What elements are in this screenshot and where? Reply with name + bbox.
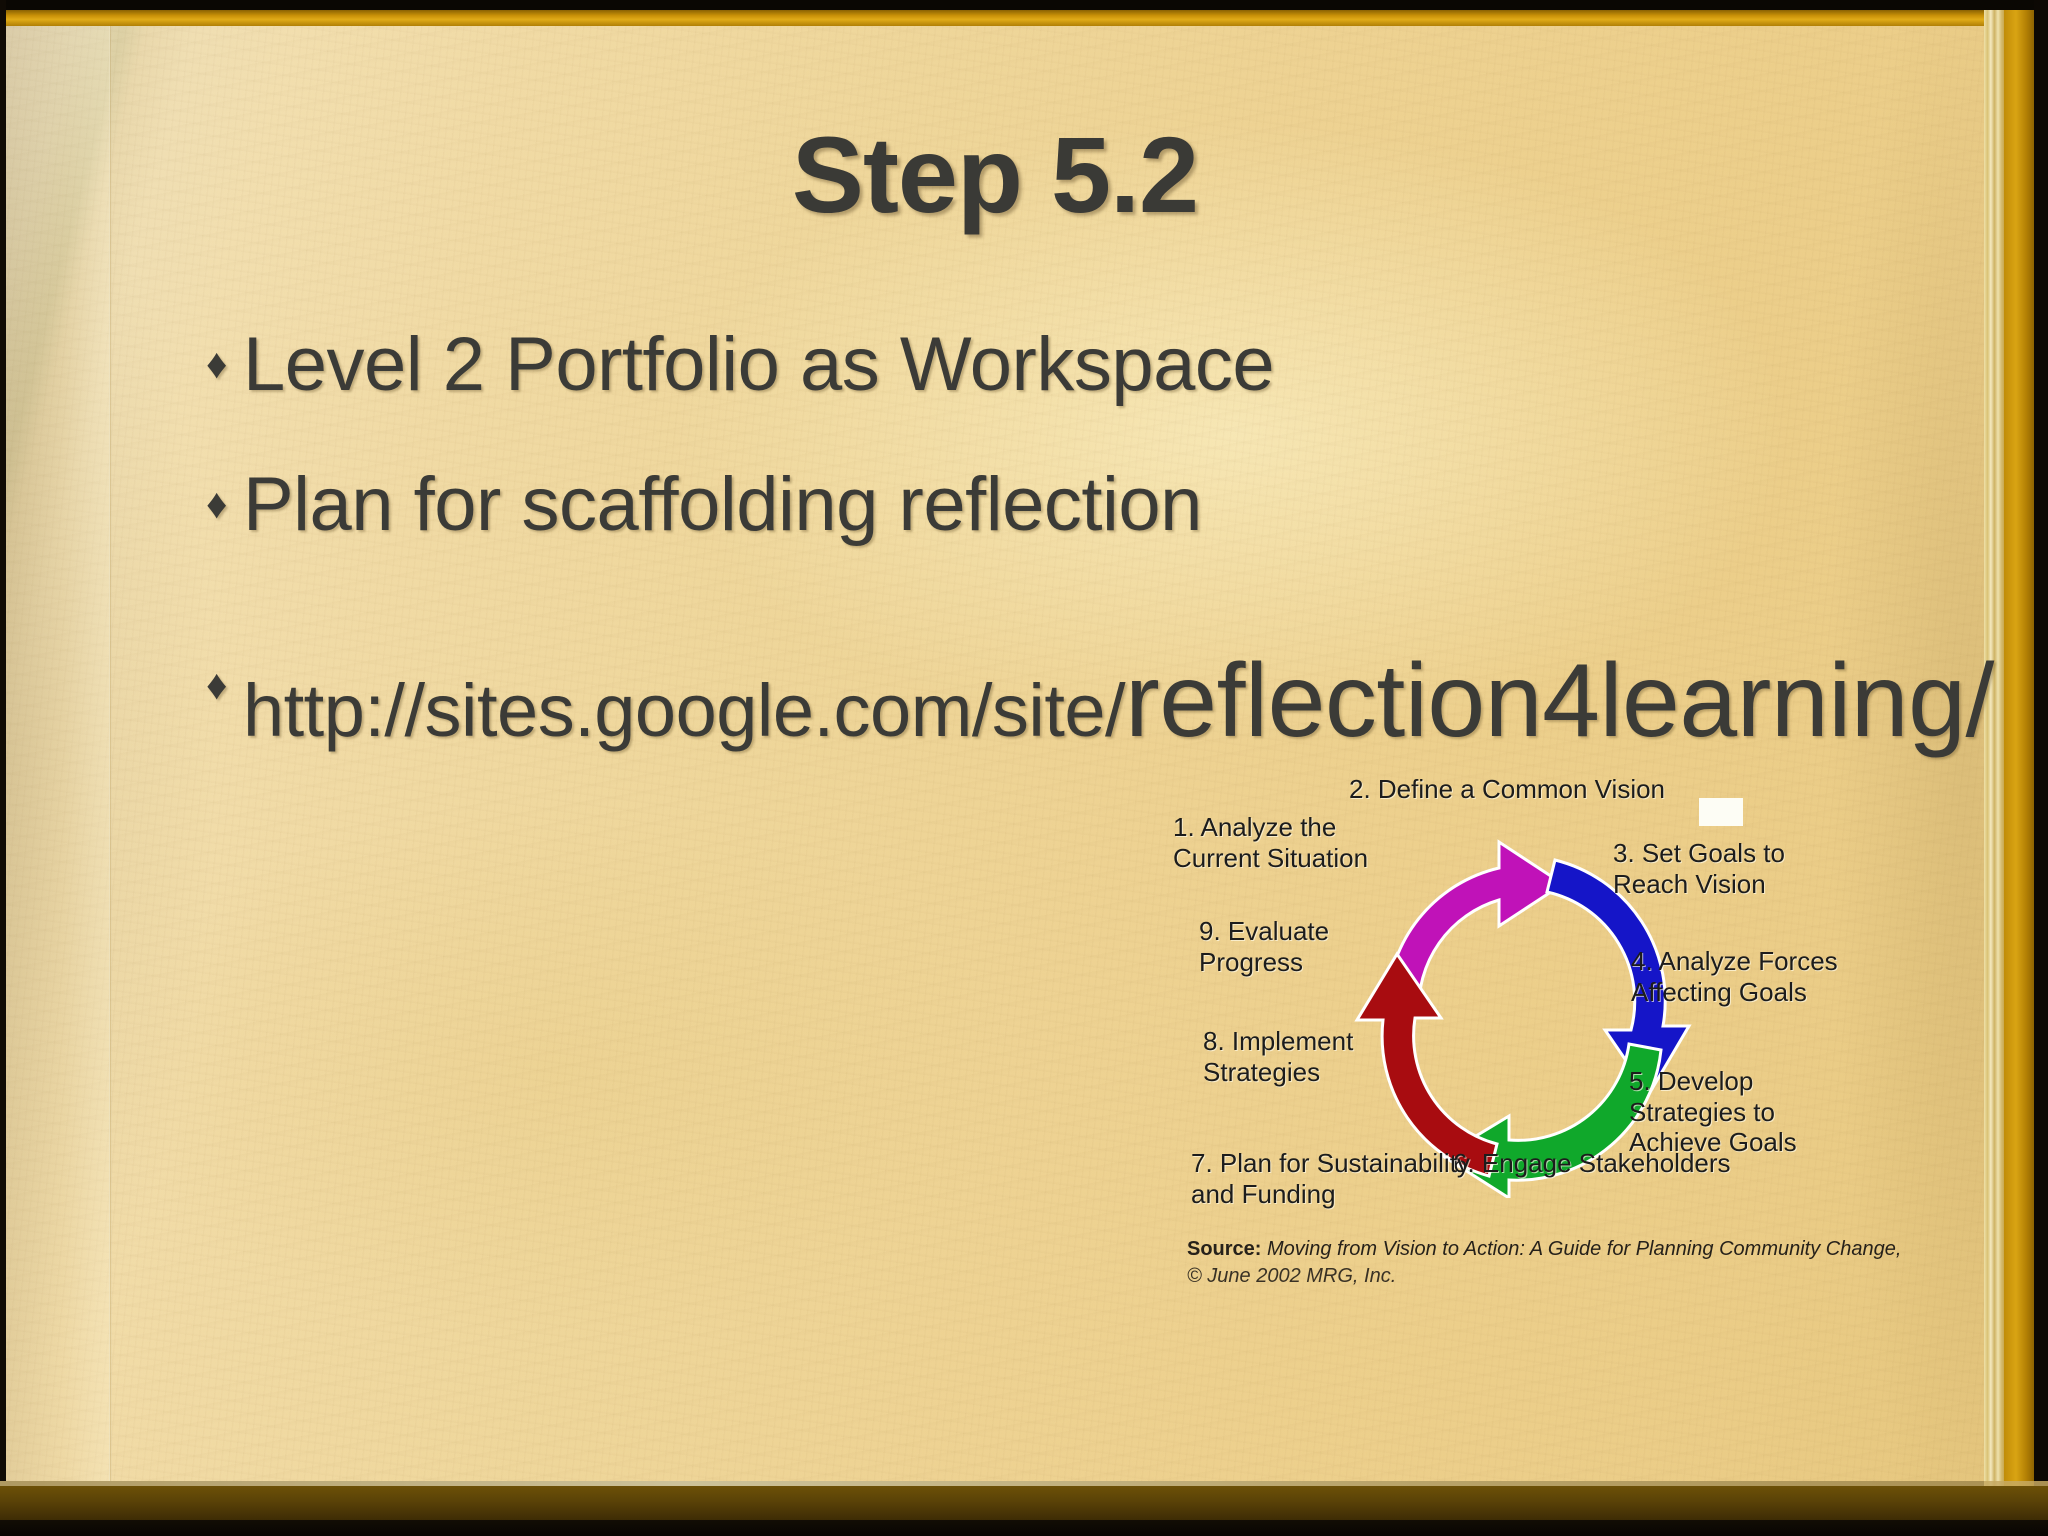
community-change-cycle-diagram: 1. Analyze the Current Situation 2. Defi… [1181, 756, 1981, 1496]
diamond-bullet-icon: ♦ [206, 653, 243, 716]
frame-gold-right [2004, 10, 2034, 1522]
bullet-text-3-url[interactable]: http://sites.google.com/site/reflection4… [243, 647, 1994, 756]
diagram-label-2: 2. Define a Common Vision [1349, 774, 1665, 805]
diamond-bullet-icon: ♦ [206, 472, 243, 535]
diagram-label-5: 5. Develop Strategies to Achieve Goals [1629, 1066, 1797, 1158]
diagram-label-1: 1. Analyze the Current Situation [1173, 812, 1368, 873]
arrow-red [1357, 954, 1497, 1176]
frame-edge-right [2034, 0, 2048, 1536]
diagram-label-6: 6. Engage Stakeholders [1453, 1148, 1731, 1179]
list-item: ♦ Plan for scaffolding reflection [206, 466, 1944, 544]
bullet-text-1: Level 2 Portfolio as Workspace [243, 326, 1944, 404]
list-item: ♦ Level 2 Portfolio as Workspace [206, 326, 1944, 404]
source-copyright: © June 2002 MRG, Inc. [1187, 1263, 1957, 1290]
frame-edge-top [0, 0, 2048, 10]
diagram-source-attribution: Source: Moving from Vision to Action: A … [1187, 1236, 1957, 1290]
frame-gold-top [0, 10, 2048, 26]
url-suffix: reflection4learning/ [1125, 643, 1994, 759]
frame-gold-right-stripes [1984, 10, 2004, 1522]
diagram-label-3: 3. Set Goals to Reach Vision [1613, 838, 1785, 899]
diamond-bullet-icon: ♦ [206, 332, 243, 395]
bullet-list: ♦ Level 2 Portfolio as Workspace ♦ Plan … [206, 326, 1944, 756]
slide-canvas: Step 5.2 ♦ Level 2 Portfolio as Workspac… [0, 0, 2048, 1536]
list-item: ♦ http://sites.google.com/site/reflectio… [206, 647, 1944, 756]
url-prefix: http://sites.google.com/site/ [243, 669, 1125, 752]
source-lead: Source: [1187, 1238, 1261, 1260]
diagram-label-9: 9. Evaluate Progress [1199, 916, 1329, 977]
page-title: Step 5.2 [6, 112, 1984, 237]
diagram-label-4: 4. Analyze Forces Affecting Goals [1631, 946, 1838, 1007]
frame-edge-bottom [0, 1520, 2048, 1536]
diagram-label-7: 7. Plan for Sustainability and Funding [1191, 1148, 1470, 1209]
slide-content: Step 5.2 ♦ Level 2 Portfolio as Workspac… [6, 26, 1984, 1481]
source-title: Moving from Vision to Action: A Guide fo… [1261, 1238, 1901, 1260]
bullet-text-2: Plan for scaffolding reflection [243, 466, 1944, 544]
diagram-label-8: 8. Implement Strategies [1203, 1026, 1353, 1087]
